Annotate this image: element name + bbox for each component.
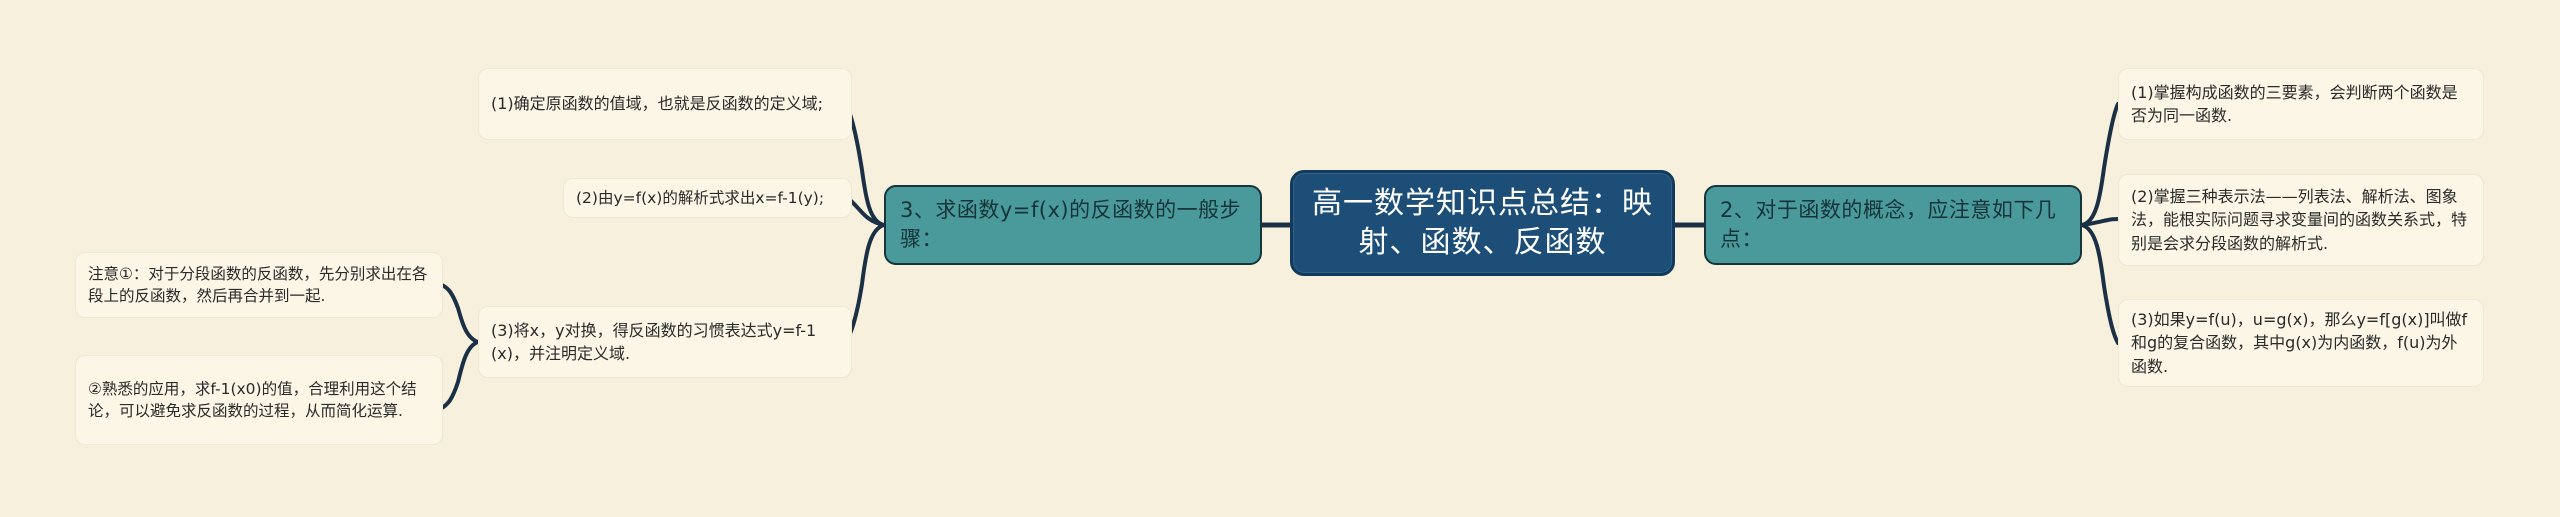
right-leaf-card-2[interactable]: (2)掌握三种表示法——列表法、解析法、图象法，能根实际问题寻求变量间的函数关系… xyxy=(2118,174,2484,266)
right-leaf-3-label: (3)如果y=f(u)，u=g(x)，那么y=f[g(x)]叫做f和g的复合函数… xyxy=(2131,308,2471,378)
edge-leaf-3-to-note-1 xyxy=(442,285,478,342)
edge-leaf-3-to-note-2 xyxy=(442,342,478,408)
root-node[interactable]: 高一数学知识点总结：映射、函数、反函数 xyxy=(1290,170,1675,276)
right-leaf-1-label: (1)掌握构成函数的三要素，会判断两个函数是否为同一函数. xyxy=(2131,81,2471,127)
right-leaf-2-label: (2)掌握三种表示法——列表法、解析法、图象法，能根实际问题寻求变量间的函数关系… xyxy=(2131,185,2471,255)
left-leaf-2-label: (2)由y=f(x)的解析式求出x=f-1(y); xyxy=(576,187,839,209)
left-leaf-card-1[interactable]: (1)确定原函数的值域，也就是反函数的定义域; xyxy=(478,68,852,140)
note-1-label: 注意①：对于分段函数的反函数，先分别求出在各段上的反函数，然后再合并到一起. xyxy=(88,263,430,308)
root-label: 高一数学知识点总结：映射、函数、反函数 xyxy=(1293,184,1672,262)
note-card-2[interactable]: ②熟悉的应用，求f-1(x0)的值，合理利用这个结论，可以避免求反函数的过程，从… xyxy=(75,355,443,445)
edge-right-branch-to-leaf-2 xyxy=(2082,219,2118,225)
branch-node-right[interactable]: 2、对于函数的概念，应注意如下几点： xyxy=(1704,185,2082,265)
left-leaf-1-label: (1)确定原函数的值域，也就是反函数的定义域; xyxy=(491,92,839,115)
branch-node-left[interactable]: 3、求函数y=f(x)的反函数的一般步骤： xyxy=(884,185,1262,265)
right-leaf-card-1[interactable]: (1)掌握构成函数的三要素，会判断两个函数是否为同一函数. xyxy=(2118,68,2484,140)
edge-right-branch-to-leaf-1 xyxy=(2082,104,2118,225)
right-leaf-card-3[interactable]: (3)如果y=f(u)，u=g(x)，那么y=f[g(x)]叫做f和g的复合函数… xyxy=(2118,299,2484,387)
left-leaf-3-label: (3)将x，y对换，得反函数的习惯表达式y=f-1(x)，并注明定义域. xyxy=(491,319,839,365)
note-2-label: ②熟悉的应用，求f-1(x0)的值，合理利用这个结论，可以避免求反函数的过程，从… xyxy=(88,378,430,423)
branch-right-label: 2、对于函数的概念，应注意如下几点： xyxy=(1720,196,2068,254)
left-leaf-card-3[interactable]: (3)将x，y对换，得反函数的习惯表达式y=f-1(x)，并注明定义域. xyxy=(478,306,852,378)
left-leaf-card-2[interactable]: (2)由y=f(x)的解析式求出x=f-1(y); xyxy=(563,178,852,218)
branch-left-label: 3、求函数y=f(x)的反函数的一般步骤： xyxy=(900,196,1248,254)
edge-right-branch-to-leaf-3 xyxy=(2082,225,2118,343)
mindmap-canvas: 注意①：对于分段函数的反函数，先分别求出在各段上的反函数，然后再合并到一起. ②… xyxy=(0,0,2560,517)
note-card-1[interactable]: 注意①：对于分段函数的反函数，先分别求出在各段上的反函数，然后再合并到一起. xyxy=(75,252,443,318)
